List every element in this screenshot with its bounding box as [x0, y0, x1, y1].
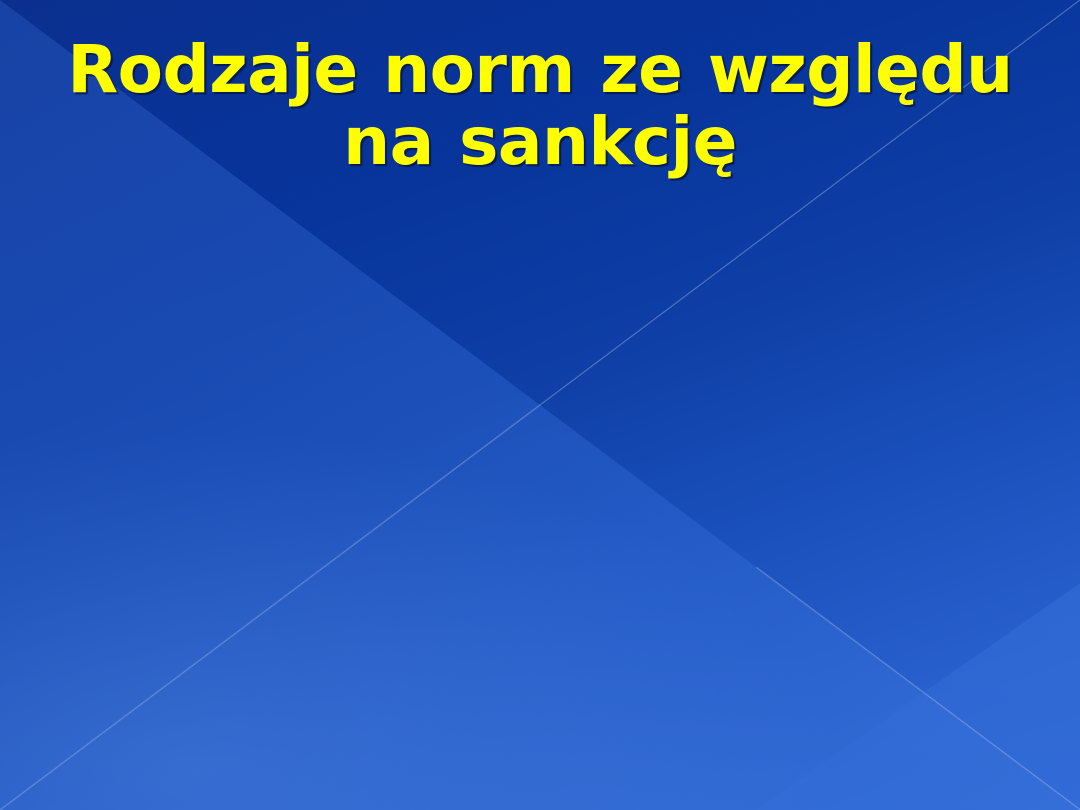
- presentation-slide: Rodzaje norm ze względu na sankcję: [0, 0, 1080, 810]
- title-placeholder: Rodzaje norm ze względu na sankcję: [60, 34, 1020, 178]
- slide-title: Rodzaje norm ze względu na sankcję: [60, 34, 1020, 178]
